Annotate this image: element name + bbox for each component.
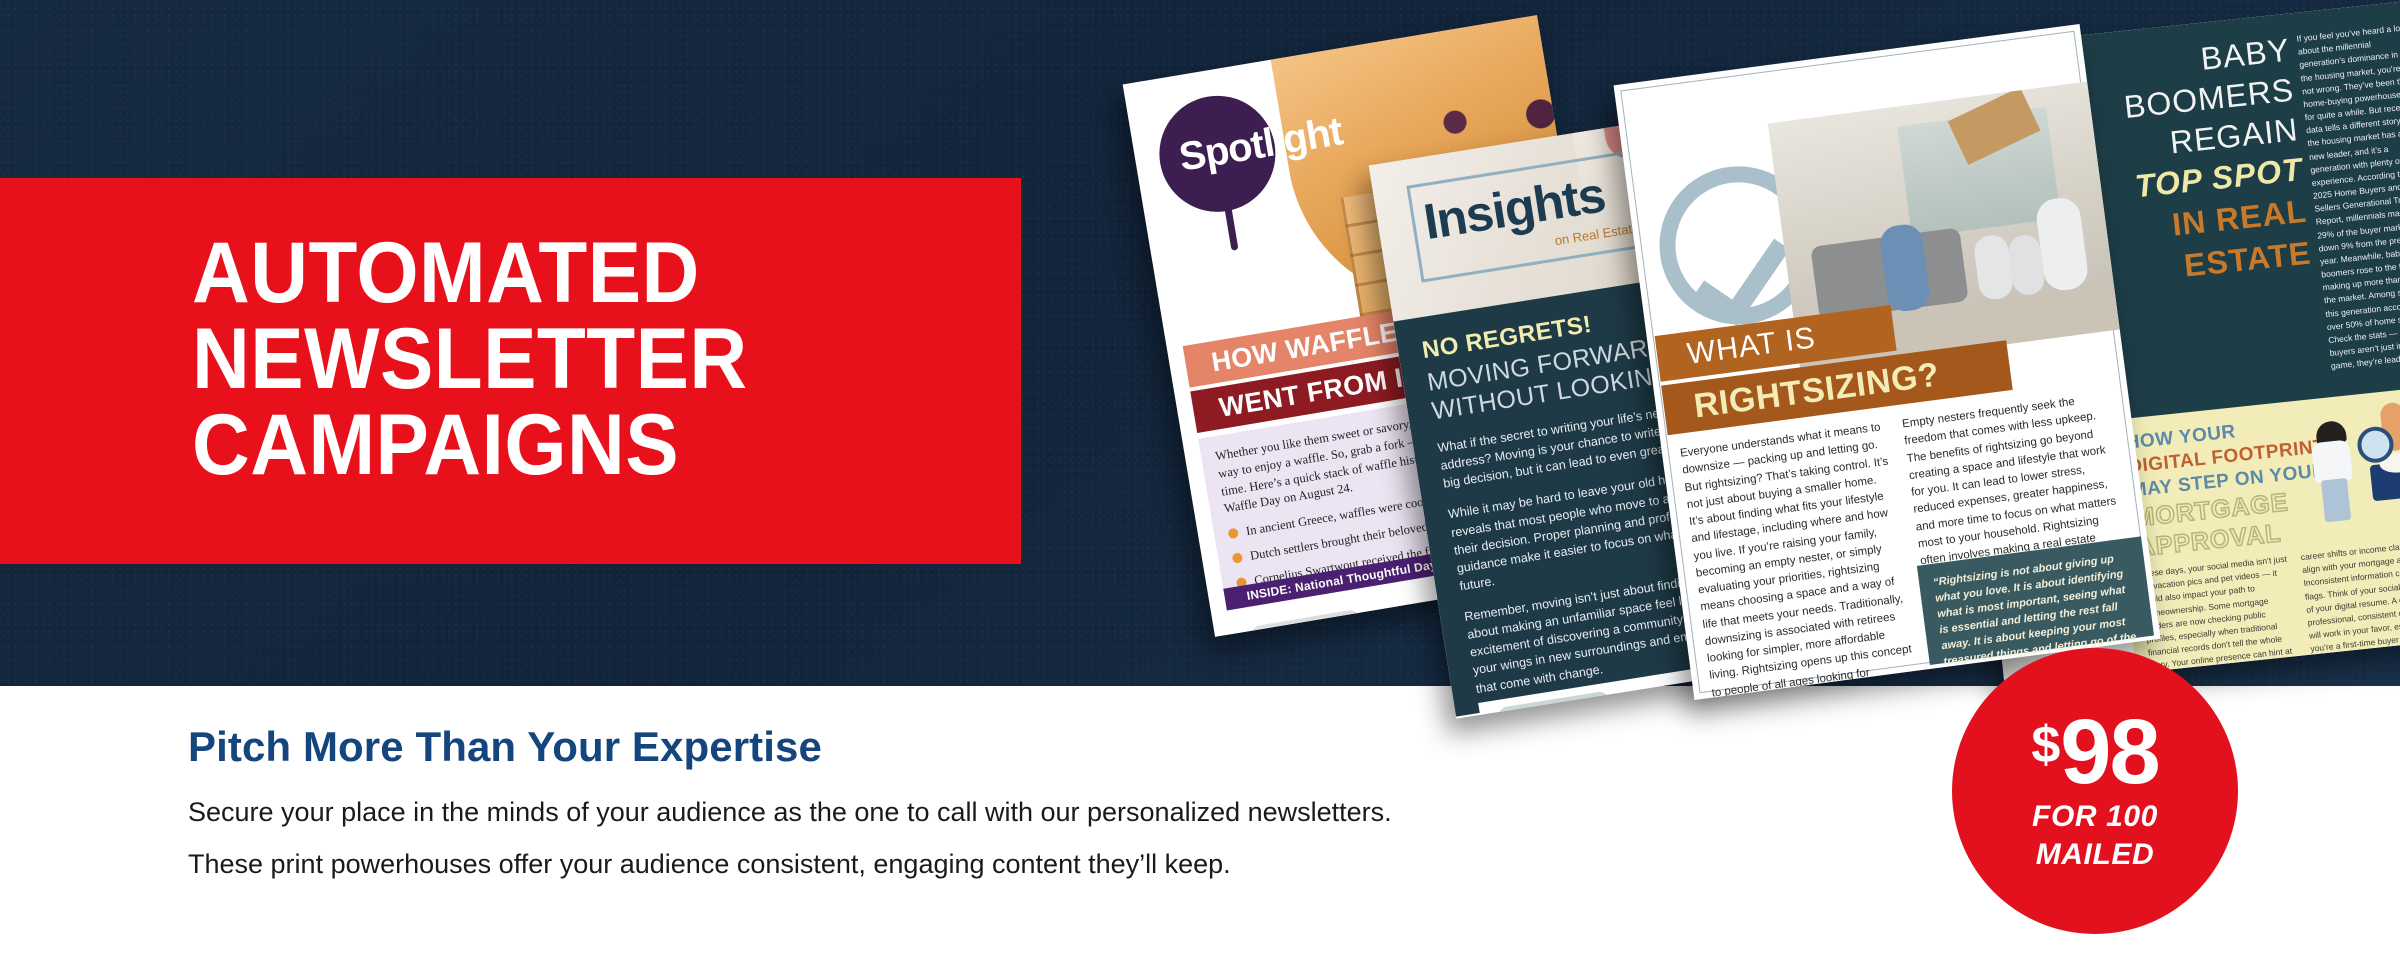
- agent-photo: [1250, 609, 1378, 637]
- copy-paragraph-2: These print powerhouses offer your audie…: [188, 846, 1748, 882]
- price-value: 98: [2060, 710, 2158, 795]
- person-legs: [2321, 478, 2351, 522]
- person-child-1: [1973, 233, 2015, 301]
- badge-line-2: MAILED: [2036, 838, 2155, 872]
- badge-line-1: FOR 100: [2032, 800, 2158, 834]
- headline-red-block: AUTOMATED NEWSLETTER CAMPAIGNS: [0, 178, 1021, 564]
- person-body: [2311, 439, 2353, 483]
- newsletter-rightsizing: WHAT IS RIGHTSIZING? Everyone understand…: [1614, 24, 2161, 700]
- headline-line-3: CAMPAIGNS: [192, 402, 955, 488]
- newsletter-stack: Empty nesters frequently seek the freedo…: [1140, 10, 2400, 700]
- agent-title: Broker: [1377, 628, 1417, 637]
- copy-paragraph-1: Secure your place in the minds of your a…: [188, 794, 1748, 830]
- price-badge: $ 98 FOR 100 MAILED: [1952, 648, 2238, 934]
- bb-headline-6: ESTATE: [2182, 235, 2313, 285]
- headline-line-2: NEWSLETTER: [192, 316, 955, 402]
- copy-heading: Pitch More Than Your Expertise: [188, 726, 1748, 768]
- bb-headline-1: BABY: [2199, 32, 2292, 78]
- bb-body-text: If you feel you’ve heard a lot about the…: [2296, 21, 2400, 373]
- banner-stage: Empty nesters frequently seek the freedo…: [0, 0, 2400, 958]
- headline-line-1: AUTOMATED: [192, 230, 955, 316]
- person-figure: [2309, 420, 2355, 519]
- price-amount: $ 98: [2031, 710, 2158, 795]
- page-title: AUTOMATED NEWSLETTER CAMPAIGNS: [192, 230, 955, 488]
- currency-symbol: $: [2031, 722, 2058, 770]
- marketing-copy: Pitch More Than Your Expertise Secure yo…: [188, 726, 1748, 898]
- fingerprint-scan-illustration: [2285, 391, 2400, 543]
- bb-sub-col-right: career shifts or income claims that don’…: [2300, 535, 2400, 687]
